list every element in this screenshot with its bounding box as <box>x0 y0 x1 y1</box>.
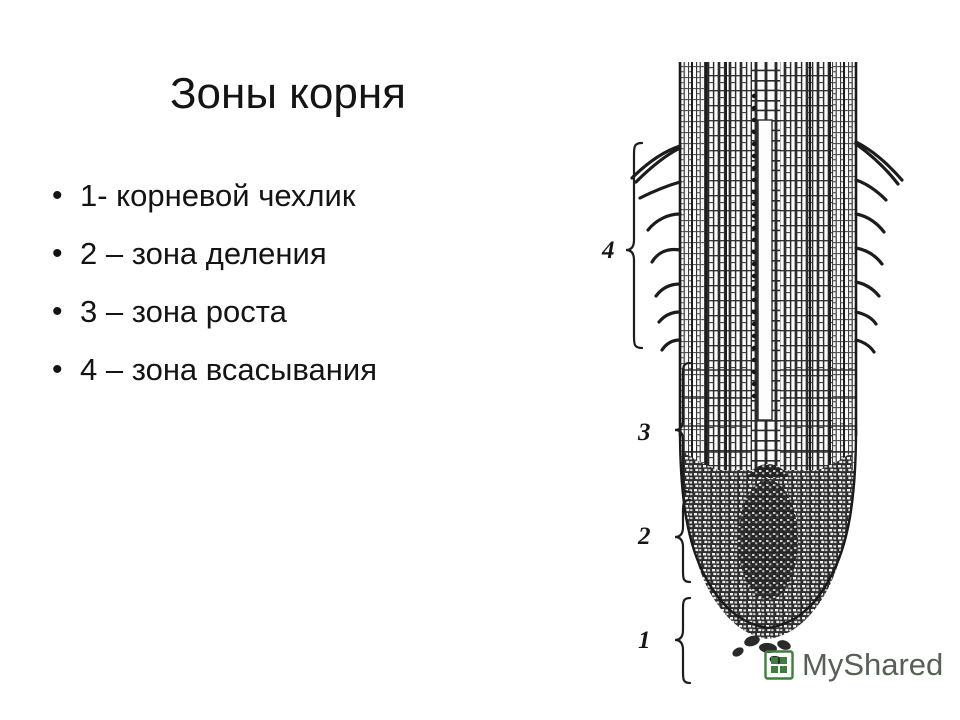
myshared-logo-icon <box>764 650 794 680</box>
root-tip-illustration-icon <box>576 0 960 720</box>
watermark-label: MyShared <box>802 648 943 682</box>
root-diagram: 4 3 2 1 <box>576 0 960 720</box>
list-item-label: 3 – зона роста <box>80 292 287 332</box>
bullet-list: • 1- корневой чехлик • 2 – зона деления … <box>52 176 572 408</box>
list-item-label: 4 – зона всасывания <box>80 350 377 390</box>
bullet-marker-icon: • <box>52 234 80 274</box>
list-item: • 1- корневой чехлик <box>52 176 572 234</box>
list-item: • 4 – зона всасывания <box>52 350 572 408</box>
bullet-marker-icon: • <box>52 350 80 390</box>
list-item-label: 2 – зона деления <box>80 234 327 274</box>
page-title: Зоны корня <box>0 68 576 120</box>
zone-label-1: 1 <box>638 628 651 653</box>
list-item-label: 1- корневой чехлик <box>80 176 355 216</box>
zone-brace-1 <box>675 598 690 683</box>
watermark: MyShared <box>764 648 943 682</box>
zone-label-2: 2 <box>638 524 651 549</box>
bullet-marker-icon: • <box>52 176 80 216</box>
list-item: • 2 – зона деления <box>52 234 572 292</box>
bullet-marker-icon: • <box>52 292 80 332</box>
zone-label-3: 3 <box>638 420 651 445</box>
list-item: • 3 – зона роста <box>52 292 572 350</box>
zone-label-4: 4 <box>602 238 615 263</box>
slide-canvas: Зоны корня • 1- корневой чехлик • 2 – зо… <box>0 0 960 720</box>
zone-brace-4 <box>626 143 642 348</box>
